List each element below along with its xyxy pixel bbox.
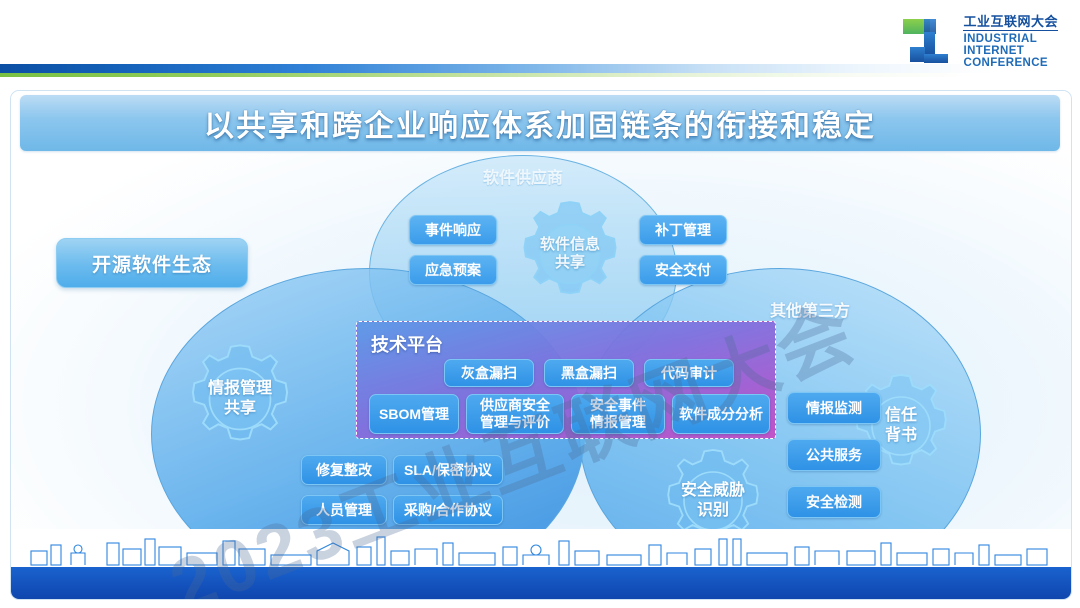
conference-logo: 工业互联网大会 INDUSTRIAL INTERNET CONFERENCE bbox=[902, 14, 1058, 70]
slide-root: 工业互联网大会 INDUSTRIAL INTERNET CONFERENCE 以… bbox=[0, 0, 1080, 608]
chip-label-line-1: 安全事件 bbox=[590, 397, 646, 414]
chip-emergency-plan[interactable]: 应急预案 bbox=[409, 255, 497, 285]
brand-header: 工业互联网大会 INDUSTRIAL INTERNET CONFERENCE bbox=[0, 0, 1080, 86]
chip-public-service[interactable]: 公共服务 bbox=[787, 439, 881, 471]
gear-label-line-2: 共享 bbox=[555, 254, 585, 272]
ellipse-right-caption: 其他第三方 bbox=[770, 297, 850, 321]
chip-procurement-agreement[interactable]: 采购/合作协议 bbox=[393, 495, 503, 525]
chip-label: 人员管理 bbox=[316, 502, 372, 519]
chip-patch-management[interactable]: 补丁管理 bbox=[639, 215, 727, 245]
chip-black-box-scan[interactable]: 黑盒漏扫 bbox=[544, 359, 634, 387]
chip-label: SLA/保密协议 bbox=[404, 462, 492, 479]
gear-software-info-sharing-label: 软件信息 共享 bbox=[511, 195, 629, 313]
skyline-silhouette-icon bbox=[11, 529, 1071, 569]
chip-software-composition-analysis[interactable]: 软件成分分析 bbox=[672, 394, 770, 434]
slide-title: 以共享和跨企业响应体系加固链条的衔接和稳定 bbox=[204, 101, 876, 145]
gear-label-line-1: 软件信息 bbox=[540, 236, 600, 254]
logo-english-line-3: CONFERENCE bbox=[963, 57, 1058, 69]
tech-platform-title: 技术平台 bbox=[371, 331, 443, 357]
gear-label-line-2: 背书 bbox=[885, 426, 917, 446]
chip-secure-delivery[interactable]: 安全交付 bbox=[639, 255, 727, 285]
chip-intel-monitoring[interactable]: 情报监测 bbox=[787, 392, 881, 424]
chip-label: 修复整改 bbox=[316, 462, 372, 479]
gear-label-line-1: 安全威胁 bbox=[681, 481, 745, 501]
chip-label: 应急预案 bbox=[425, 262, 481, 279]
chip-label: 黑盒漏扫 bbox=[561, 365, 617, 382]
chip-label: 补丁管理 bbox=[655, 222, 711, 239]
logo-english-line-2: INTERNET bbox=[963, 45, 1058, 57]
chip-repair-rectification[interactable]: 修复整改 bbox=[301, 455, 387, 485]
chip-sbom-management[interactable]: SBOM管理 bbox=[369, 394, 459, 434]
chip-label-line-1: 供应商安全 bbox=[480, 397, 550, 414]
gear-intel-management-sharing: 情报管理 共享 bbox=[179, 338, 301, 460]
chip-code-audit[interactable]: 代码审计 bbox=[644, 359, 734, 387]
chip-label: 代码审计 bbox=[661, 365, 717, 382]
chip-label: 情报监测 bbox=[806, 400, 862, 417]
gear-label-line-1: 信任 bbox=[885, 406, 917, 426]
chip-label: 安全交付 bbox=[655, 262, 711, 279]
chip-label-line-2: 情报管理 bbox=[590, 414, 646, 431]
ellipse-top-caption: 软件供应商 bbox=[370, 164, 676, 188]
chip-sla-nda[interactable]: SLA/保密协议 bbox=[393, 455, 503, 485]
gear-label-line-2: 识别 bbox=[697, 501, 729, 521]
tech-platform-panel: 技术平台 灰盒漏扫 黑盒漏扫 代码审计 SBOM管理 供应商安全 管理与评价 bbox=[356, 321, 776, 439]
skyline-water bbox=[11, 567, 1071, 599]
chip-incident-response[interactable]: 事件响应 bbox=[409, 215, 497, 245]
chip-personnel-management[interactable]: 人员管理 bbox=[301, 495, 387, 525]
conference-logo-icon bbox=[902, 14, 954, 70]
chip-label-line-2: 管理与评价 bbox=[480, 414, 550, 431]
gear-software-info-sharing: 软件信息 共享 bbox=[511, 195, 629, 313]
logo-chinese-name: 工业互联网大会 bbox=[963, 15, 1058, 31]
chip-security-incident-intel[interactable]: 安全事件 情报管理 bbox=[571, 394, 665, 434]
chip-label: 公共服务 bbox=[806, 447, 862, 464]
conference-logo-text: 工业互联网大会 INDUSTRIAL INTERNET CONFERENCE bbox=[963, 15, 1058, 69]
open-source-ecosystem-label: 开源软件生态 bbox=[92, 250, 212, 277]
gear-label-line-1: 情报管理 bbox=[208, 379, 272, 399]
skyline-decoration bbox=[11, 529, 1071, 599]
slide-card: 以共享和跨企业响应体系加固链条的衔接和稳定 开源软件生态 软件供应商 其他第三方 bbox=[10, 90, 1072, 600]
diagram-canvas: 开源软件生态 软件供应商 其他第三方 软件信息 共享 bbox=[11, 153, 1071, 599]
chip-label: 采购/合作协议 bbox=[404, 502, 492, 519]
chip-label: SBOM管理 bbox=[379, 406, 449, 423]
chip-label: 灰盒漏扫 bbox=[461, 365, 517, 382]
gear-label-line-2: 共享 bbox=[224, 399, 256, 419]
slide-title-banner: 以共享和跨企业响应体系加固链条的衔接和稳定 bbox=[20, 95, 1060, 151]
logo-english-line-1: INDUSTRIAL bbox=[963, 33, 1058, 45]
chip-supplier-security-management[interactable]: 供应商安全 管理与评价 bbox=[466, 394, 564, 434]
chip-label: 安全检测 bbox=[806, 494, 862, 511]
chip-gray-box-scan[interactable]: 灰盒漏扫 bbox=[444, 359, 534, 387]
open-source-ecosystem-pill[interactable]: 开源软件生态 bbox=[56, 238, 248, 288]
chip-security-testing[interactable]: 安全检测 bbox=[787, 486, 881, 518]
chip-label: 软件成分分析 bbox=[679, 406, 763, 423]
header-green-stripe bbox=[0, 73, 1080, 77]
chip-label: 事件响应 bbox=[425, 222, 481, 239]
gear-intel-management-sharing-label: 情报管理 共享 bbox=[179, 338, 301, 460]
